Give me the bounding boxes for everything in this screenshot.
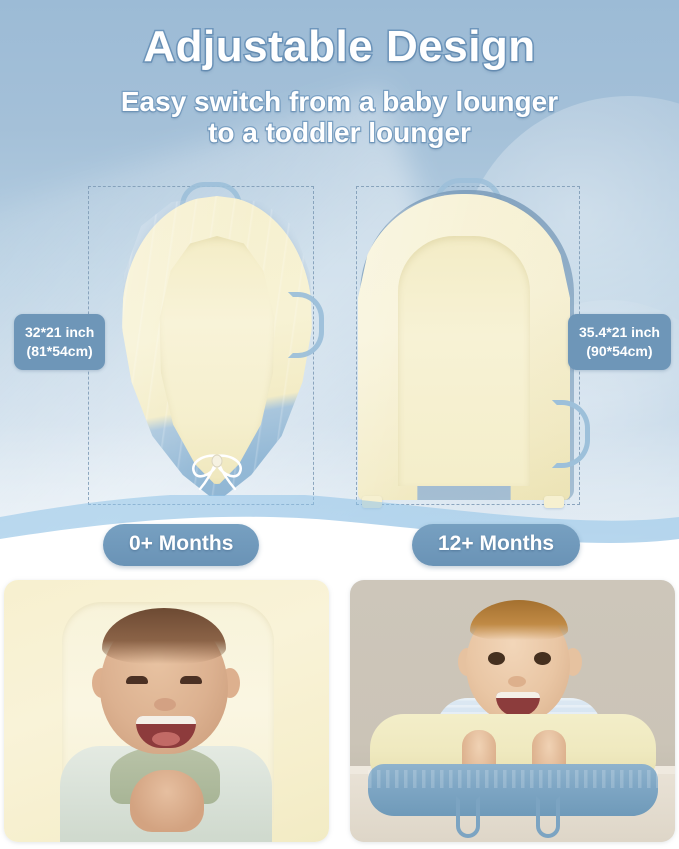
photo-right-toddler-nose [508, 676, 526, 687]
photo-right-lounger-handle-left [456, 796, 480, 838]
photo-left-baby-eye-right [180, 676, 202, 684]
badge-age-baby: 0+ Months [103, 524, 259, 566]
dimension-right-inch: 35.4*21 inch [579, 323, 660, 342]
lounger-drawstring-bow-icon [184, 448, 250, 492]
photo-toddler-on-lounger [350, 580, 675, 842]
photo-baby-in-lounger [4, 580, 329, 842]
photo-gallery [0, 572, 679, 849]
subtitle-line-2: to a toddler lounger [0, 117, 679, 148]
badge-age-toddler: 12+ Months [412, 524, 580, 566]
dimension-label-left: 32*21 inch (81*54cm) [14, 314, 105, 370]
photo-right-lounger-handle-right [536, 796, 560, 838]
photo-right-lounger-blue-base [368, 764, 658, 816]
toddler-lounger-illustration [358, 190, 576, 502]
page-subtitle: Easy switch from a baby lounger to a tod… [0, 86, 679, 148]
photo-right-toddler-eye-right [534, 652, 551, 665]
photo-left-baby-hands [130, 770, 204, 832]
photo-left-baby-eye-left [126, 676, 148, 684]
subtitle-line-1: Easy switch from a baby lounger [0, 86, 679, 117]
baby-lounger-illustration [122, 196, 312, 496]
product-infographic: Adjustable Design Easy switch from a bab… [0, 0, 679, 849]
dimension-label-right: 35.4*21 inch (90*54cm) [568, 314, 671, 370]
dimension-left-cm: (81*54cm) [25, 342, 94, 361]
photo-right-toddler-eye-left [488, 652, 505, 665]
photo-left-baby-nose [154, 698, 176, 711]
toddler-lounger-inner-mattress [398, 236, 530, 486]
page-title: Adjustable Design [0, 22, 679, 72]
dimension-right-cm: (90*54cm) [579, 342, 660, 361]
dimension-left-inch: 32*21 inch [25, 323, 94, 342]
